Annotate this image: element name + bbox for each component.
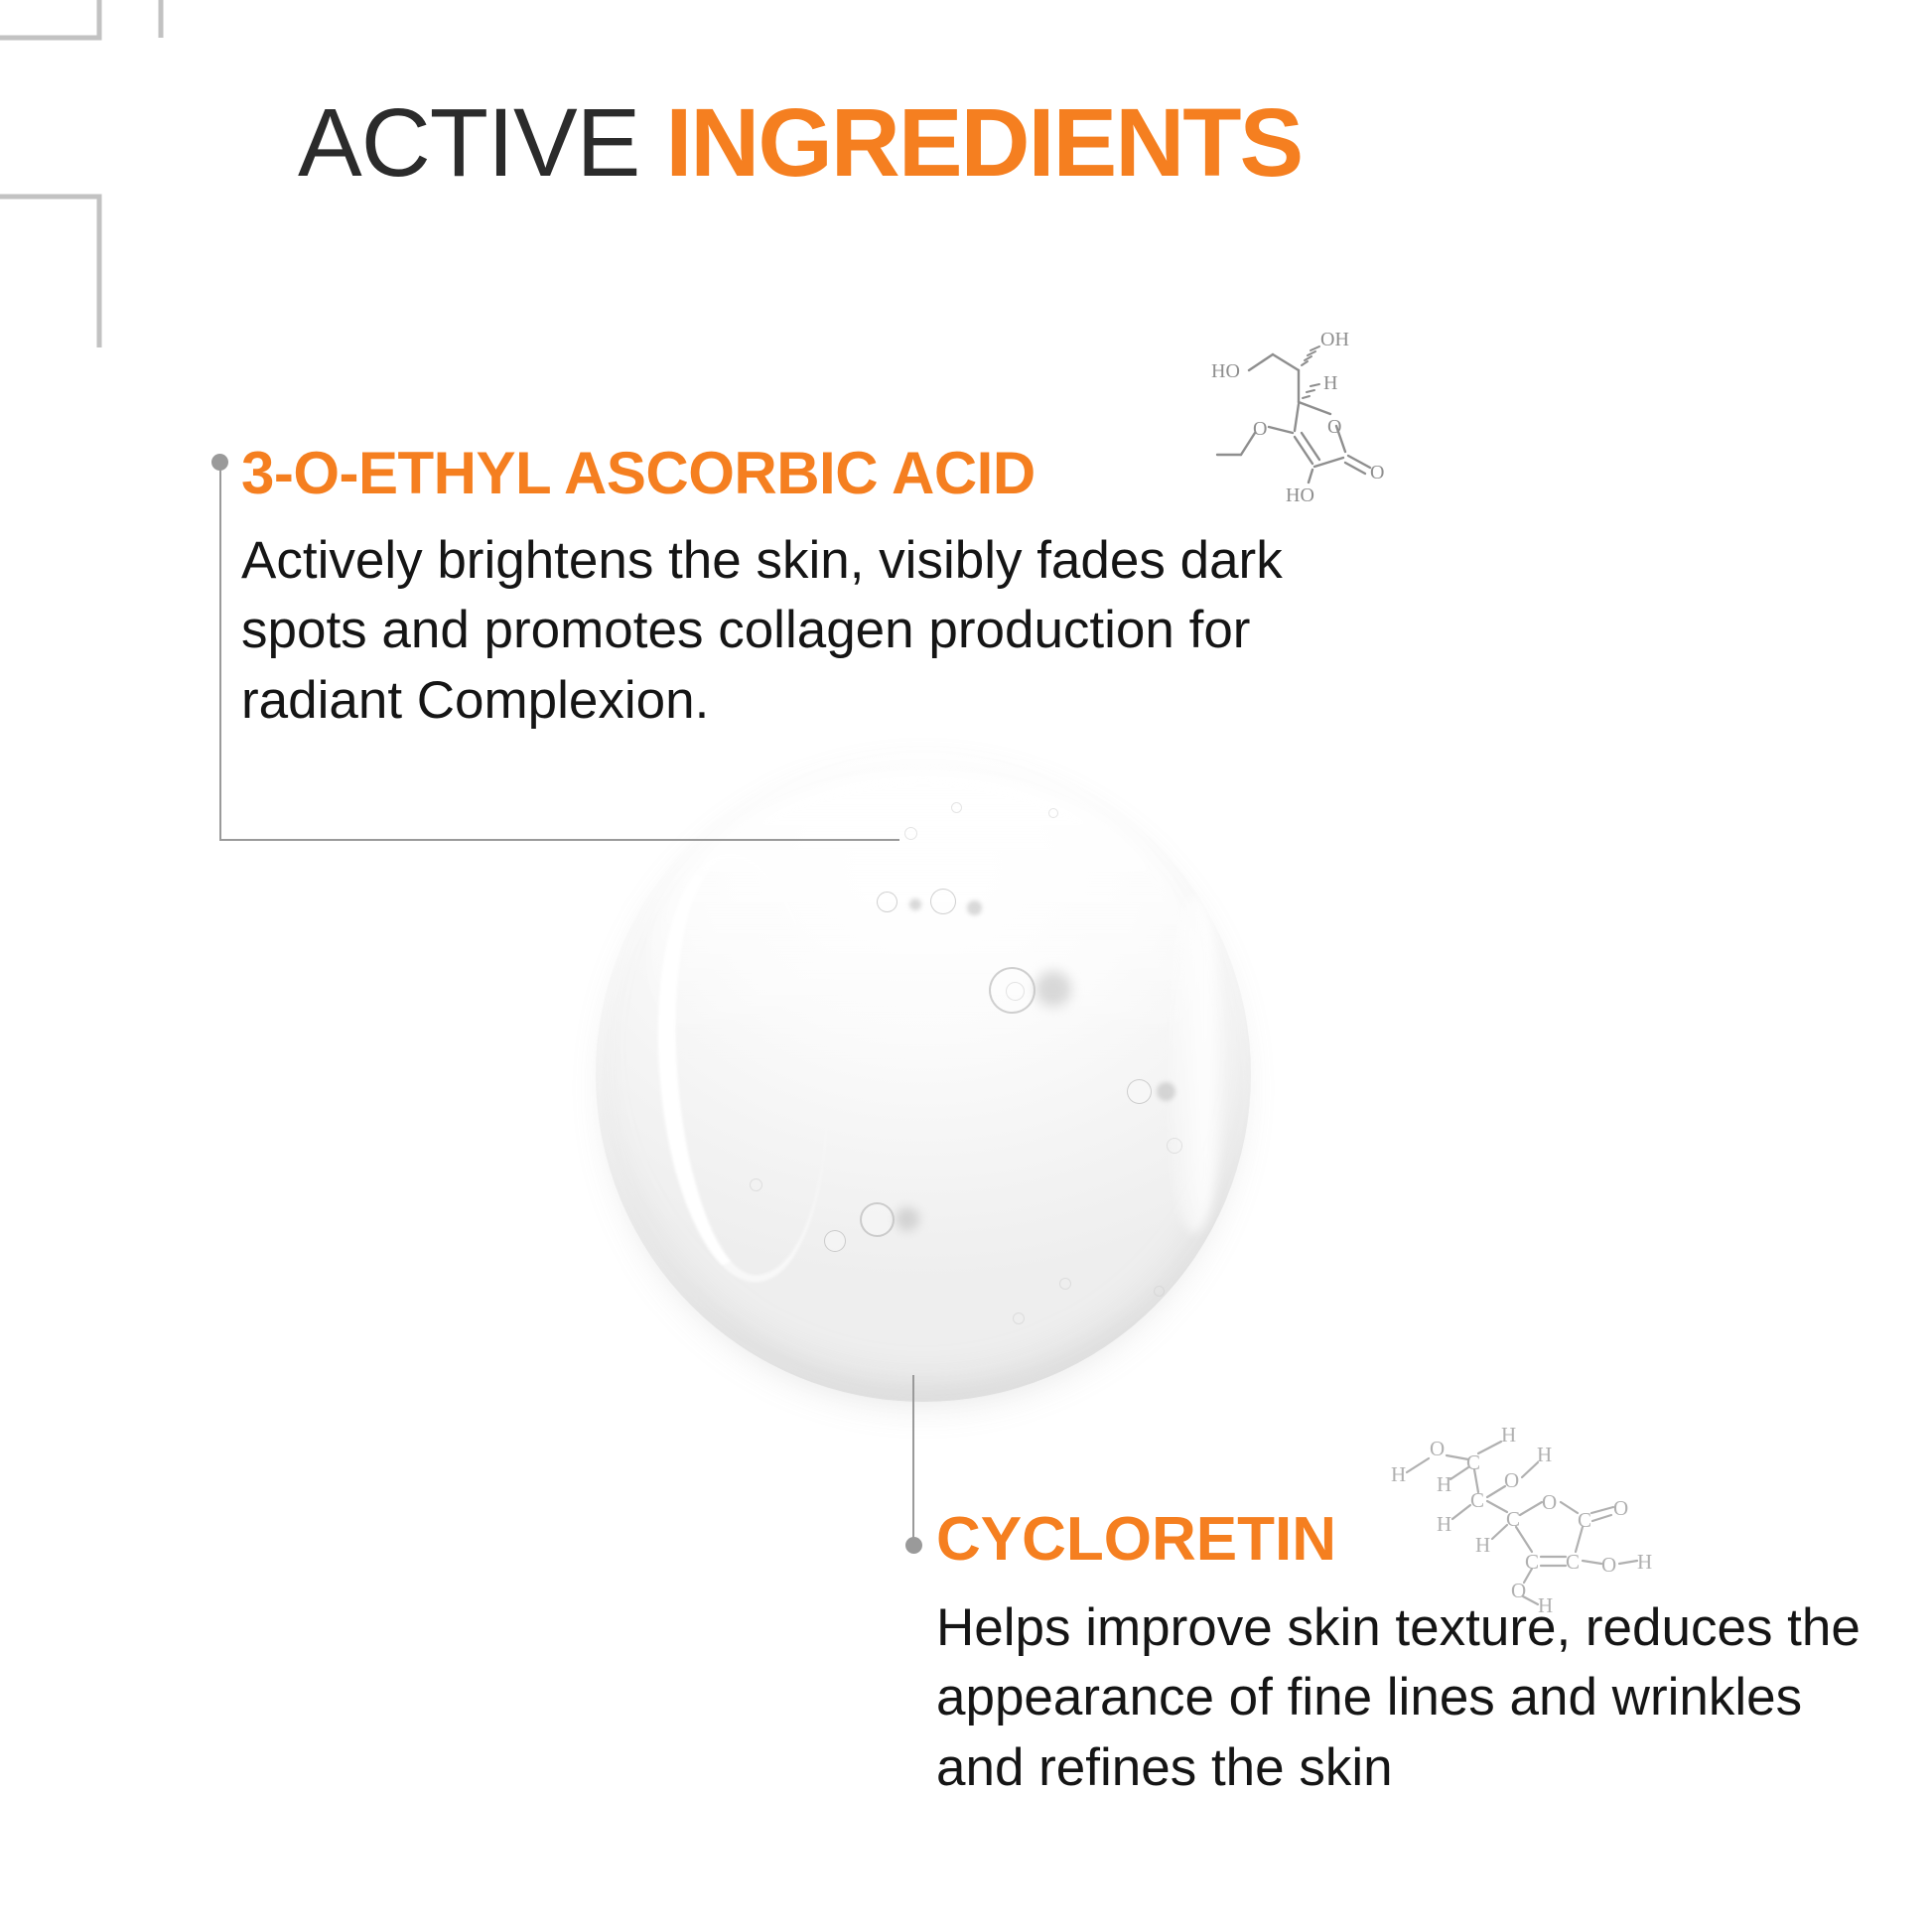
atom-label-C: C xyxy=(1525,1550,1539,1574)
atom-label-O: O xyxy=(1430,1437,1445,1460)
bubble xyxy=(1006,982,1025,1001)
bubble xyxy=(1127,1079,1152,1104)
atom-label-H: H xyxy=(1537,1443,1552,1466)
atom-label-O: O xyxy=(1542,1490,1557,1514)
page-title-bold: INGREDIENTS xyxy=(665,88,1302,197)
bubble xyxy=(877,892,897,912)
cycloretin-structure-icon: H O C H H O H C H C H O C O C C O H O H xyxy=(1375,1410,1673,1613)
bubble xyxy=(860,1202,895,1237)
connector-line-horizontal-a xyxy=(219,839,899,841)
atom-label-O-ether: O xyxy=(1253,418,1267,440)
atom-label-H: H xyxy=(1637,1550,1652,1574)
atom-label-O-ring: O xyxy=(1327,416,1341,438)
ingredient-description-cycloretin: Helps improve skin texture, reduces the … xyxy=(936,1593,1889,1803)
atom-label-O: O xyxy=(1511,1579,1526,1602)
atom-label-H: H xyxy=(1391,1462,1406,1486)
bubble xyxy=(930,889,956,914)
atom-label-C: C xyxy=(1466,1450,1480,1474)
bubble xyxy=(1048,808,1058,818)
page-title: ACTIVE INGREDIENTS xyxy=(298,94,1302,191)
atom-label-H: H xyxy=(1323,372,1337,394)
droplet-right-glow xyxy=(1164,896,1225,1233)
bubble xyxy=(1059,1278,1071,1290)
atom-label-O-carbonyl: O xyxy=(1370,462,1384,483)
connector-line-vertical-b xyxy=(912,1375,914,1544)
bubble xyxy=(951,802,962,813)
bubble xyxy=(824,1230,846,1252)
atom-label-H: H xyxy=(1437,1512,1451,1536)
bubble-dot xyxy=(1035,971,1071,1007)
ingredient-heading-3-o-ethyl-ascorbic-acid: 3-O-ETHYL ASCORBIC ACID xyxy=(241,444,1035,503)
atom-label-OH: OH xyxy=(1320,329,1349,350)
atom-label-H: H xyxy=(1538,1593,1553,1613)
ingredient-description-3-o-ethyl-ascorbic-acid: Actively brightens the skin, visibly fad… xyxy=(241,526,1403,736)
atom-label-H: H xyxy=(1437,1472,1451,1496)
ingredient-heading-cycloretin: CYCLORETIN xyxy=(936,1509,1336,1571)
atom-label-H: H xyxy=(1501,1423,1516,1447)
plus-outline-decoration-icon xyxy=(0,0,298,347)
bubble xyxy=(750,1178,762,1191)
3-o-ethyl-ascorbic-acid-structure-icon: HO OH H O O O HO xyxy=(1203,328,1402,501)
atom-label-C: C xyxy=(1470,1488,1484,1512)
active-ingredients-infographic: ACTIVE INGREDIENTS xyxy=(0,0,1932,1932)
bubble xyxy=(1013,1312,1025,1324)
atom-label-HO-bottom: HO xyxy=(1286,484,1314,501)
bubble-dot xyxy=(1157,1082,1175,1101)
atom-label-HO: HO xyxy=(1211,360,1240,382)
connector-dot-ingredient-b xyxy=(905,1537,922,1554)
atom-label-C: C xyxy=(1506,1507,1520,1531)
atom-label-O: O xyxy=(1613,1496,1628,1520)
atom-label-O: O xyxy=(1504,1468,1519,1492)
bubble-dot xyxy=(896,1207,919,1231)
atom-label-C: C xyxy=(1578,1508,1591,1532)
page-title-light: ACTIVE xyxy=(298,88,639,197)
atom-label-C: C xyxy=(1566,1550,1580,1574)
bubble-dot xyxy=(967,900,982,915)
atom-label-H: H xyxy=(1475,1533,1490,1557)
serum-droplet xyxy=(596,747,1251,1402)
bubble xyxy=(904,827,917,840)
atom-label-O: O xyxy=(1601,1553,1616,1577)
connector-line-vertical-a xyxy=(219,467,221,839)
bubble-dot xyxy=(909,898,921,910)
bubble xyxy=(1167,1138,1182,1154)
bubble xyxy=(1154,1286,1165,1297)
